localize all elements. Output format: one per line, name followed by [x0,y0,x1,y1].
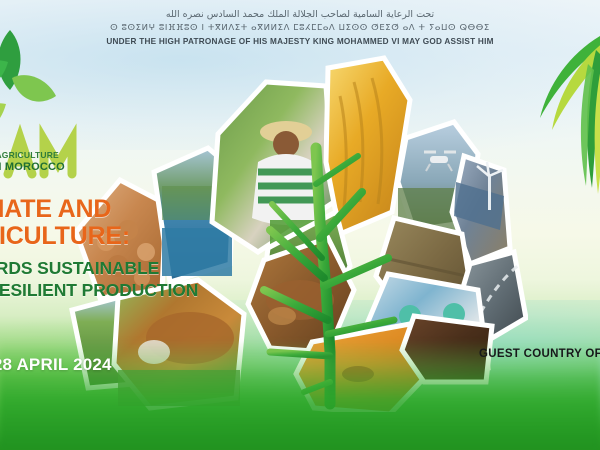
siam-logo-tagline: INTERNATIONAL AGRICULTURE EXHIBITION IN … [0,150,82,173]
poster-canvas: تحت الرعاية السامية لصاحب الجلالة الملك … [0,0,600,450]
headline-line-1: CLIMATE AND [0,196,224,223]
headline-block: CLIMATE AND AGRICULTURE: TOWARDS SUSTAIN… [0,196,224,301]
headline-line-4: AND RESILIENT PRODUCTION [0,279,224,301]
patronage-tifinagh: ⵙ ⵓⵙⵉⵍⵖ ⵓⵏⴼⴼⵓⵙ ⵏ ⵜⴳⵍⴷⵉⵜ ⴰⴳⵍⵍⵉⴷ ⵎⵓⵃⵎⵎⴰⴷ ⵡ… [0,22,600,35]
logo-tagline-line2: EXHIBITION IN MOROCCO [0,161,82,173]
logo-leaves-icon [0,30,56,132]
headline-line-2: AGRICULTURE: [0,223,224,250]
patronage-english: UNDER THE HIGH PATRONAGE OF HIS MAJESTY … [0,35,600,48]
logo-tagline-line1: INTERNATIONAL AGRICULTURE [0,150,82,160]
patronage-block: تحت الرعاية السامية لصاحب الجلالة الملك … [0,8,600,48]
facet-wheat [326,58,410,234]
headline-line-3: TOWARDS SUSTAINABLE [0,257,224,279]
event-date: 22 TO 28 APRIL 2024 [0,355,200,375]
guest-country-label: GUEST COUNTRY OF [479,348,600,360]
patronage-arabic: تحت الرعاية السامية لصاحب الجلالة الملك … [0,8,600,22]
